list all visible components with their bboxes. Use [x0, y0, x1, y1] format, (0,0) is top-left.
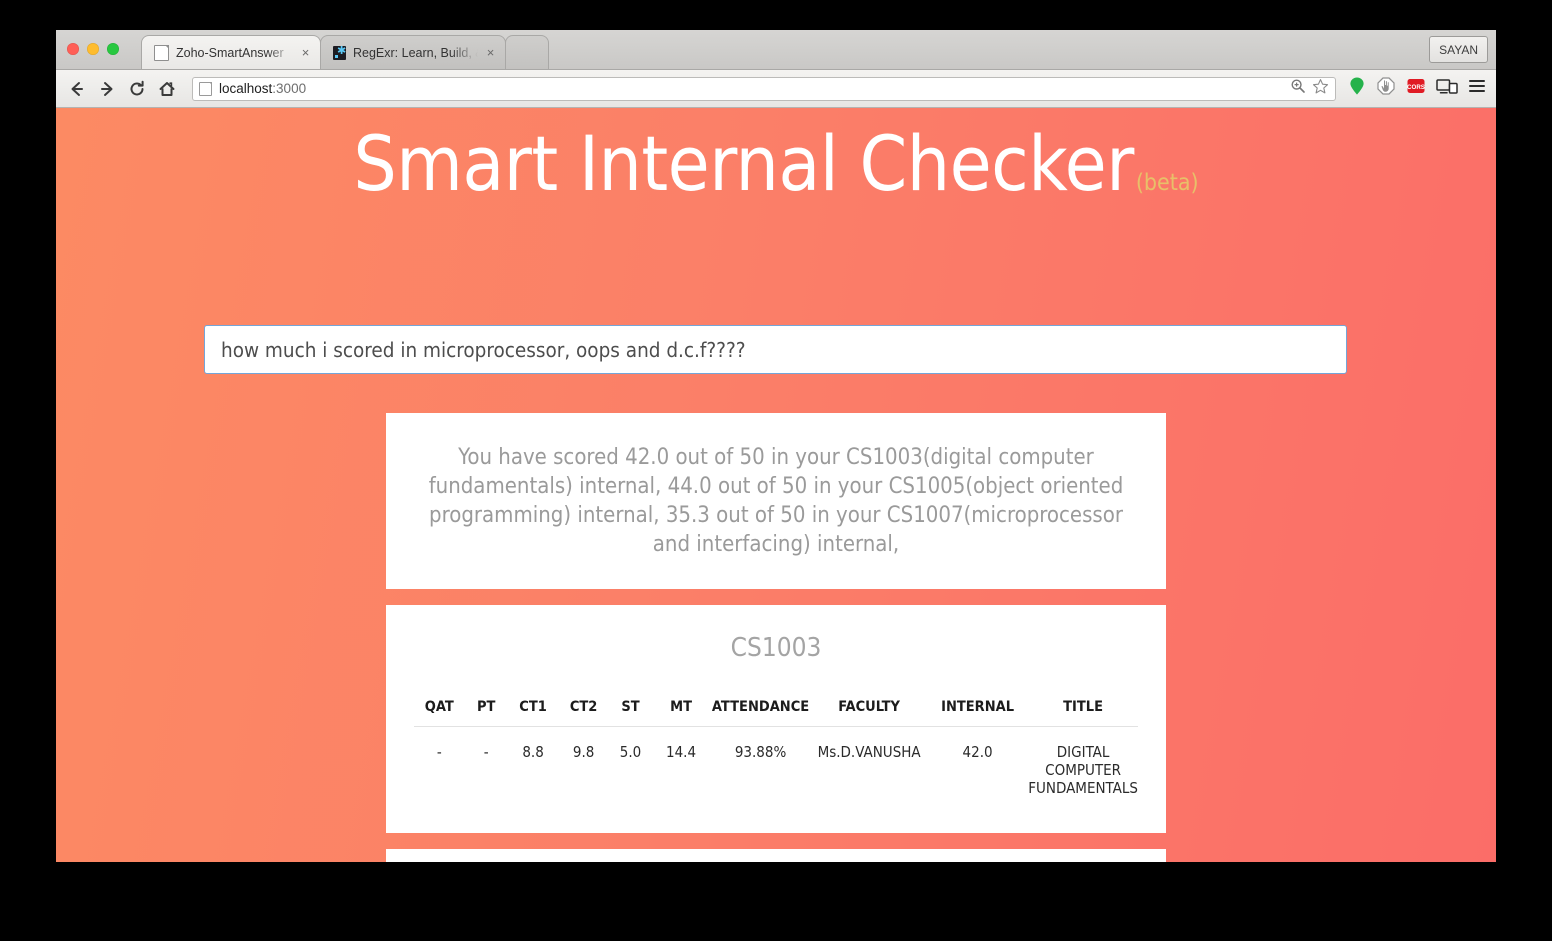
adblock-stop-icon[interactable]	[1376, 76, 1396, 101]
document-icon	[154, 45, 169, 61]
browser-extensions: CORS	[1348, 76, 1486, 101]
cell-mt: 14.4	[652, 727, 710, 798]
browser-toolbar: localhost:3000	[56, 70, 1496, 108]
browser-tab-title: Zoho-SmartAnswer	[176, 46, 293, 60]
course-card-cs1005: CS1005 QAT PT CT1 CT2 ST MT ATTENDANCE F…	[386, 849, 1166, 862]
minimize-window-button[interactable]	[87, 43, 99, 55]
reload-icon[interactable]	[124, 76, 150, 102]
address-bar[interactable]: localhost:3000	[192, 77, 1336, 101]
address-bar-port: :3000	[272, 81, 306, 96]
cell-pt: -	[465, 727, 508, 798]
table-row: - - 8.8 9.8 5.0 14.4 93.88% Ms.D.VANUSHA…	[414, 727, 1138, 798]
browser-tabstrip: Zoho-SmartAnswer × ✱ RegExr: Learn, Buil…	[56, 30, 1496, 70]
cell-title: DIGITAL COMPUTER FUNDAMENTALS	[1028, 727, 1138, 798]
page-title-beta-badge: (beta)	[1136, 170, 1199, 196]
regexr-icon: ✱	[333, 46, 346, 60]
cell-st: 5.0	[609, 727, 652, 798]
results-area: You have scored 42.0 out of 50 in your C…	[386, 413, 1166, 862]
browser-window: Zoho-SmartAnswer × ✱ RegExr: Learn, Buil…	[56, 30, 1496, 862]
address-bar-url: localhost:3000	[219, 81, 306, 96]
answer-card: You have scored 42.0 out of 50 in your C…	[386, 413, 1166, 589]
forward-icon[interactable]	[94, 76, 120, 102]
address-bar-host: localhost	[219, 81, 272, 96]
browser-tab-zoho-smartanswer[interactable]: Zoho-SmartAnswer ×	[141, 35, 321, 69]
search-area	[204, 325, 1347, 374]
bookmark-star-icon[interactable]	[1312, 78, 1329, 100]
page-title: Smart Internal Checker(beta)	[56, 126, 1496, 202]
cell-faculty: Ms.D.VANUSHA	[811, 727, 927, 798]
cell-attendance: 93.88%	[710, 727, 811, 798]
profile-button[interactable]: SAYAN	[1429, 36, 1488, 63]
cell-ct1: 8.8	[508, 727, 559, 798]
browser-tab-title: RegExr: Learn, Build, & Tes	[353, 46, 478, 60]
zoom-icon[interactable]	[1290, 78, 1306, 99]
new-tab-button[interactable]	[505, 35, 549, 69]
cors-icon[interactable]: CORS	[1406, 76, 1426, 101]
column-header-attendance: ATTENDANCE	[710, 699, 811, 727]
profile-label: SAYAN	[1439, 43, 1478, 57]
page-icon	[199, 82, 212, 96]
column-header-title: TITLE	[1028, 699, 1138, 727]
address-bar-actions	[1290, 78, 1329, 100]
close-window-button[interactable]	[67, 43, 79, 55]
course-card-cs1003: CS1003 QAT PT CT1 CT2 ST MT ATTENDANCE F…	[386, 605, 1166, 833]
page-title-text: Smart Internal Checker	[353, 119, 1133, 208]
browser-menu-icon[interactable]	[1468, 78, 1486, 99]
cell-ct2: 9.8	[558, 727, 609, 798]
column-header-ct2: CT2	[558, 699, 609, 727]
answer-text: You have scored 42.0 out of 50 in your C…	[410, 443, 1142, 559]
cell-qat: -	[414, 727, 465, 798]
maximize-window-button[interactable]	[107, 43, 119, 55]
column-header-internal: INTERNAL	[927, 699, 1028, 727]
cell-internal: 42.0	[927, 727, 1028, 798]
column-header-mt: MT	[652, 699, 710, 727]
close-tab-icon[interactable]: ×	[484, 46, 497, 59]
marks-table-head: QAT PT CT1 CT2 ST MT ATTENDANCE FACULTY …	[414, 699, 1138, 727]
green-pin-icon[interactable]	[1348, 76, 1366, 101]
browser-tab-regexr[interactable]: ✱ RegExr: Learn, Build, & Tes ×	[320, 35, 506, 69]
browser-tabs: Zoho-SmartAnswer × ✱ RegExr: Learn, Buil…	[141, 35, 548, 69]
column-header-faculty: FACULTY	[811, 699, 927, 727]
close-tab-icon[interactable]: ×	[299, 46, 312, 59]
svg-text:CORS: CORS	[1407, 84, 1425, 91]
home-icon[interactable]	[154, 76, 180, 102]
marks-table-body: - - 8.8 9.8 5.0 14.4 93.88% Ms.D.VANUSHA…	[414, 727, 1138, 798]
window-controls	[67, 43, 119, 55]
table-header-row: QAT PT CT1 CT2 ST MT ATTENDANCE FACULTY …	[414, 699, 1138, 727]
devtools-device-icon[interactable]	[1436, 77, 1458, 100]
course-code-heading: CS1003	[414, 633, 1138, 663]
page-viewport: Smart Internal Checker(beta) You have sc…	[56, 108, 1496, 862]
marks-table: QAT PT CT1 CT2 ST MT ATTENDANCE FACULTY …	[414, 699, 1138, 797]
column-header-ct1: CT1	[508, 699, 559, 727]
back-icon[interactable]	[64, 76, 90, 102]
column-header-st: ST	[609, 699, 652, 727]
column-header-qat: QAT	[414, 699, 465, 727]
column-header-pt: PT	[465, 699, 508, 727]
search-input[interactable]	[204, 325, 1347, 374]
